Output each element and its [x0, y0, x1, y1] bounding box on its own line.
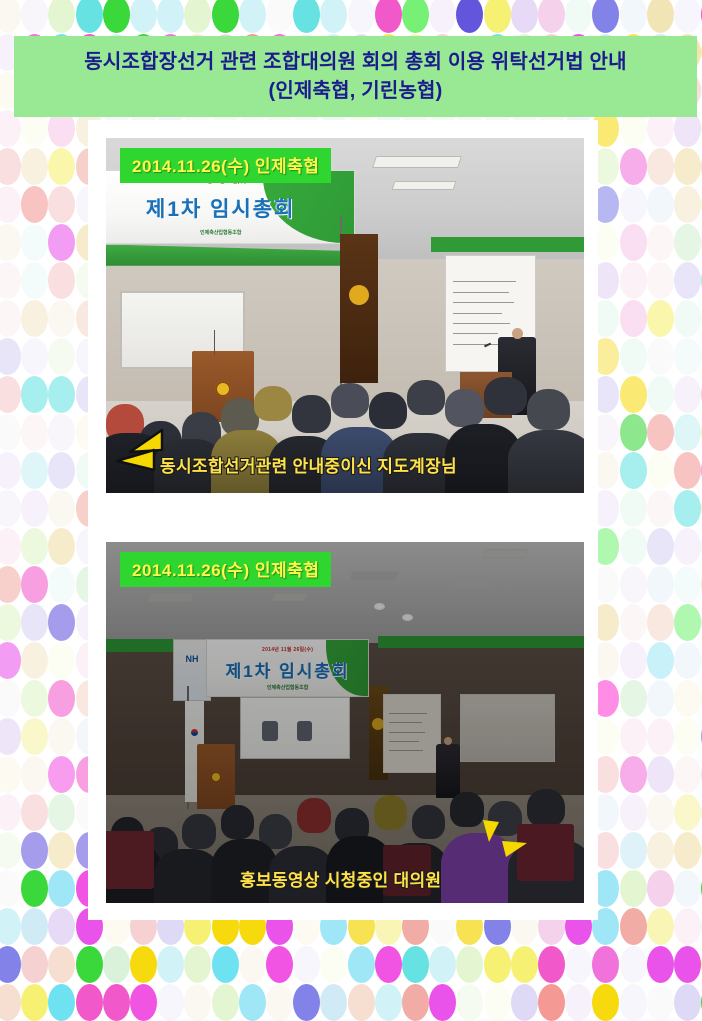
audience-member — [182, 814, 215, 849]
background-dot — [48, 794, 75, 831]
background-dot — [647, 452, 674, 489]
background-dot — [674, 186, 701, 223]
background-dot — [21, 414, 48, 451]
background-dot — [674, 452, 701, 489]
background-dot — [647, 224, 674, 261]
background-dot — [348, 984, 375, 1021]
background-dot — [266, 0, 293, 33]
background-dot — [647, 870, 674, 907]
background-dot — [647, 832, 674, 869]
background-dot — [21, 376, 48, 413]
background-dot — [647, 376, 674, 413]
photo-meeting-hall-bright: 2014년 11월 26일(수) 제1차 임시총회 인제축산업협동조합 — [106, 138, 584, 493]
page-title-banner: 동시조합장선거 관련 조합대의원 회의 총회 이용 위탁선거법 안내 (인제축협… — [14, 36, 697, 117]
background-dot — [48, 452, 75, 489]
audience-member — [527, 389, 570, 431]
background-dot — [103, 0, 130, 33]
background-dot — [184, 0, 211, 33]
background-dot — [647, 300, 674, 337]
background-dot — [0, 756, 21, 793]
ceiling-vent — [147, 593, 193, 602]
background-dot — [620, 528, 647, 565]
background-dot — [375, 0, 402, 33]
background-dot — [402, 0, 429, 33]
banner-subtitle: 인제축산업협동조합 — [207, 684, 368, 691]
background-dot — [212, 984, 239, 1021]
background-dot — [620, 832, 647, 869]
background-dot — [21, 756, 48, 793]
audience-member — [450, 792, 483, 827]
background-dot — [130, 0, 157, 33]
audience-member — [292, 395, 330, 434]
background-dot — [212, 946, 239, 983]
background-dot — [456, 984, 483, 1021]
background-dot — [0, 0, 21, 33]
background-dot — [620, 756, 647, 793]
background-dot — [674, 984, 701, 1021]
background-dot — [239, 946, 266, 983]
background-dot — [266, 946, 293, 983]
background-dot — [130, 984, 157, 1021]
background-dot — [48, 490, 75, 527]
background-dot — [620, 870, 647, 907]
hall-banner: 2014년 11월 26일(수) 제1차 임시총회 인제축산업협동조합 — [206, 639, 369, 697]
background-dot — [0, 680, 21, 717]
background-dot — [511, 0, 538, 33]
background-dot — [620, 376, 647, 413]
background-dot — [48, 414, 75, 451]
background-dot — [76, 984, 103, 1021]
video-figure — [297, 721, 312, 741]
background-dot — [375, 946, 402, 983]
background-dot — [647, 148, 674, 185]
background-dot — [48, 604, 75, 641]
background-dot — [21, 490, 48, 527]
background-dot — [48, 832, 75, 869]
background-dot — [320, 984, 347, 1021]
background-dot — [620, 262, 647, 299]
photo-2-date-chip: 2014.11.26(수) 인제축협 — [120, 552, 331, 587]
wall-green-trim — [106, 639, 173, 652]
background-dot — [647, 794, 674, 831]
background-dot — [674, 946, 701, 983]
audience-member — [527, 789, 565, 827]
background-dot — [0, 642, 21, 679]
background-dot — [21, 148, 48, 185]
background-dot — [0, 262, 21, 299]
background-dot — [647, 490, 674, 527]
background-dot — [620, 794, 647, 831]
background-dot — [620, 338, 647, 375]
background-dot — [21, 718, 48, 755]
background-dot — [620, 300, 647, 337]
background-dot — [674, 262, 701, 299]
background-dot — [620, 908, 647, 945]
background-dot — [0, 794, 21, 831]
taegeuk — [191, 729, 198, 736]
background-dot — [620, 414, 647, 451]
background-dot — [620, 984, 647, 1021]
background-dot — [293, 0, 320, 33]
background-dot — [21, 908, 48, 945]
background-dot — [76, 946, 103, 983]
background-dot — [0, 566, 21, 603]
background-dot — [48, 262, 75, 299]
background-dot — [674, 566, 701, 603]
background-dot — [103, 984, 130, 1021]
background-dot — [0, 452, 21, 489]
background-dot — [184, 984, 211, 1021]
background-dot — [592, 0, 619, 33]
background-dot — [674, 794, 701, 831]
background-dot — [0, 338, 21, 375]
background-dot — [674, 338, 701, 375]
background-dot — [0, 376, 21, 413]
audience-member — [374, 795, 407, 830]
background-dot — [48, 224, 75, 261]
background-dot — [511, 984, 538, 1021]
background-dot — [674, 908, 701, 945]
background-dot — [21, 984, 48, 1021]
background-dot — [647, 946, 674, 983]
background-dot — [157, 0, 184, 33]
background-dot — [0, 528, 21, 565]
background-dot — [239, 984, 266, 1021]
background-dot — [647, 338, 674, 375]
background-dot — [348, 946, 375, 983]
background-dot — [293, 984, 320, 1021]
background-dot — [0, 414, 21, 451]
background-dot — [375, 984, 402, 1021]
banner-title: 제1차 임시총회 — [106, 193, 354, 223]
background-dot — [647, 984, 674, 1021]
background-dot — [48, 946, 75, 983]
background-dot — [674, 642, 701, 679]
background-dot — [674, 604, 701, 641]
background-dot — [21, 566, 48, 603]
background-dot — [320, 946, 347, 983]
background-dot — [21, 186, 48, 223]
background-dot — [647, 908, 674, 945]
background-dot — [674, 300, 701, 337]
background-dot — [21, 794, 48, 831]
background-dot — [0, 908, 21, 945]
flag-emblem — [349, 285, 369, 305]
ceiling-light — [372, 156, 462, 168]
background-dot — [647, 262, 674, 299]
background-dot — [620, 452, 647, 489]
background-dot — [647, 0, 674, 33]
audience-member — [221, 805, 254, 840]
video-figure — [262, 721, 277, 741]
background-dot — [21, 642, 48, 679]
background-dot — [647, 566, 674, 603]
background-dot — [0, 186, 21, 223]
audience-member — [297, 798, 330, 833]
audience-member — [412, 805, 445, 840]
background-dot — [48, 528, 75, 565]
background-dot — [429, 0, 456, 33]
background-dot — [647, 756, 674, 793]
background-dot — [239, 0, 266, 33]
background-dot — [48, 148, 75, 185]
background-dot — [21, 338, 48, 375]
background-dot — [565, 946, 592, 983]
background-dot — [157, 984, 184, 1021]
background-dot — [484, 0, 511, 33]
background-dot — [103, 946, 130, 983]
background-dot — [48, 376, 75, 413]
background-dot — [48, 642, 75, 679]
background-dot — [21, 224, 48, 261]
ceiling-vent — [272, 593, 308, 601]
background-dot — [266, 984, 293, 1021]
background-dot — [0, 984, 21, 1021]
background-dot — [456, 946, 483, 983]
background-dot — [21, 300, 48, 337]
audience-member — [369, 392, 407, 429]
background-dot — [647, 680, 674, 717]
background-dot — [620, 566, 647, 603]
background-dot — [565, 0, 592, 33]
background-dot — [620, 490, 647, 527]
background-dot — [674, 0, 701, 33]
background-dot — [484, 984, 511, 1021]
background-dot — [21, 832, 48, 869]
background-dot — [674, 718, 701, 755]
audience-member — [407, 380, 445, 416]
background-dot — [456, 0, 483, 33]
background-dot — [538, 984, 565, 1021]
background-dot — [538, 946, 565, 983]
wall-green-trim-right — [431, 237, 584, 251]
photo-2-caption: 홍보동영상 시청중인 대의원 — [240, 866, 441, 891]
background-dot — [620, 148, 647, 185]
background-dot — [76, 0, 103, 33]
background-dot — [620, 642, 647, 679]
ceiling-light — [391, 181, 456, 190]
background-dot — [647, 642, 674, 679]
background-dot — [674, 528, 701, 565]
background-dot — [0, 870, 21, 907]
background-dot — [21, 452, 48, 489]
background-dot — [130, 946, 157, 983]
background-dot — [48, 870, 75, 907]
background-dot — [48, 186, 75, 223]
presenter-head — [512, 328, 523, 339]
audience-member — [484, 377, 527, 416]
background-dot — [674, 756, 701, 793]
background-dot — [0, 946, 21, 983]
background-dot — [402, 946, 429, 983]
background-dot — [0, 300, 21, 337]
nh-logo-text: NH — [174, 654, 210, 664]
background-dot — [674, 376, 701, 413]
background-dot — [565, 984, 592, 1021]
photo-1-caption: 동시조합선거관련 안내중이신 지도계장님 — [160, 452, 457, 477]
background-dot — [293, 946, 320, 983]
banner-date: 2014년 11월 26일(수) — [207, 646, 368, 653]
background-dot — [21, 680, 48, 717]
background-dot — [484, 946, 511, 983]
photo-1-date-chip: 2014.11.26(수) 인제축협 — [120, 148, 331, 183]
background-dot — [674, 680, 701, 717]
background-dot — [647, 528, 674, 565]
background-dot — [620, 946, 647, 983]
background-dot — [538, 0, 565, 33]
background-dot — [647, 718, 674, 755]
background-dot — [620, 604, 647, 641]
background-dot — [429, 946, 456, 983]
background-dot — [674, 414, 701, 451]
background-dot — [674, 832, 701, 869]
background-dot — [184, 946, 211, 983]
background-dot — [48, 0, 75, 33]
banner-subtitle: 인제축산업협동조합 — [106, 229, 354, 236]
background-dot — [429, 984, 456, 1021]
background-dot — [674, 870, 701, 907]
background-dot — [21, 870, 48, 907]
photo-1-date-label: 2014.11.26(수) 인제축협 — [132, 157, 319, 176]
background-dot — [620, 680, 647, 717]
background-dot — [0, 148, 21, 185]
background-dot — [48, 908, 75, 945]
background-dot — [647, 186, 674, 223]
page-title: 동시조합장선거 관련 조합대의원 회의 총회 이용 위탁선거법 안내 (인제축협… — [76, 48, 635, 106]
background-dot — [48, 984, 75, 1021]
background-dot — [0, 490, 21, 527]
banner-title: 제1차 임시총회 — [207, 657, 368, 682]
background-dot — [674, 490, 701, 527]
background-dot — [21, 0, 48, 33]
photo-2-date-label: 2014.11.26(수) 인제축협 — [132, 561, 319, 580]
ceiling-vent — [449, 578, 495, 587]
background-dot — [21, 528, 48, 565]
background-dot — [320, 0, 347, 33]
background-dot — [0, 832, 21, 869]
background-dot — [157, 946, 184, 983]
background-dot — [0, 718, 21, 755]
background-dot — [348, 0, 375, 33]
background-dot — [674, 148, 701, 185]
background-dot — [620, 224, 647, 261]
background-dot — [620, 718, 647, 755]
background-dot — [48, 756, 75, 793]
background-dot — [21, 946, 48, 983]
background-dot — [647, 414, 674, 451]
background-dot — [402, 984, 429, 1021]
ceiling-vent — [482, 549, 528, 558]
audience-member — [331, 383, 369, 419]
ceiling-vent — [348, 571, 399, 581]
background-dot — [48, 680, 75, 717]
background-dot — [674, 224, 701, 261]
background-dot — [511, 946, 538, 983]
background-dot — [620, 186, 647, 223]
audience-member — [254, 386, 292, 422]
background-dot — [592, 984, 619, 1021]
wall-green-trim-right — [378, 636, 584, 649]
background-dot — [48, 566, 75, 603]
background-dot — [21, 604, 48, 641]
background-dot — [647, 604, 674, 641]
background-dot — [212, 0, 239, 33]
background-dot — [0, 224, 21, 261]
audience-member — [445, 389, 483, 428]
background-dot — [0, 604, 21, 641]
background-dot — [592, 946, 619, 983]
background-dot — [48, 300, 75, 337]
background-dot — [21, 262, 48, 299]
background-dot — [48, 718, 75, 755]
background-dot — [620, 0, 647, 33]
chair — [106, 831, 154, 889]
background-dot — [48, 338, 75, 375]
